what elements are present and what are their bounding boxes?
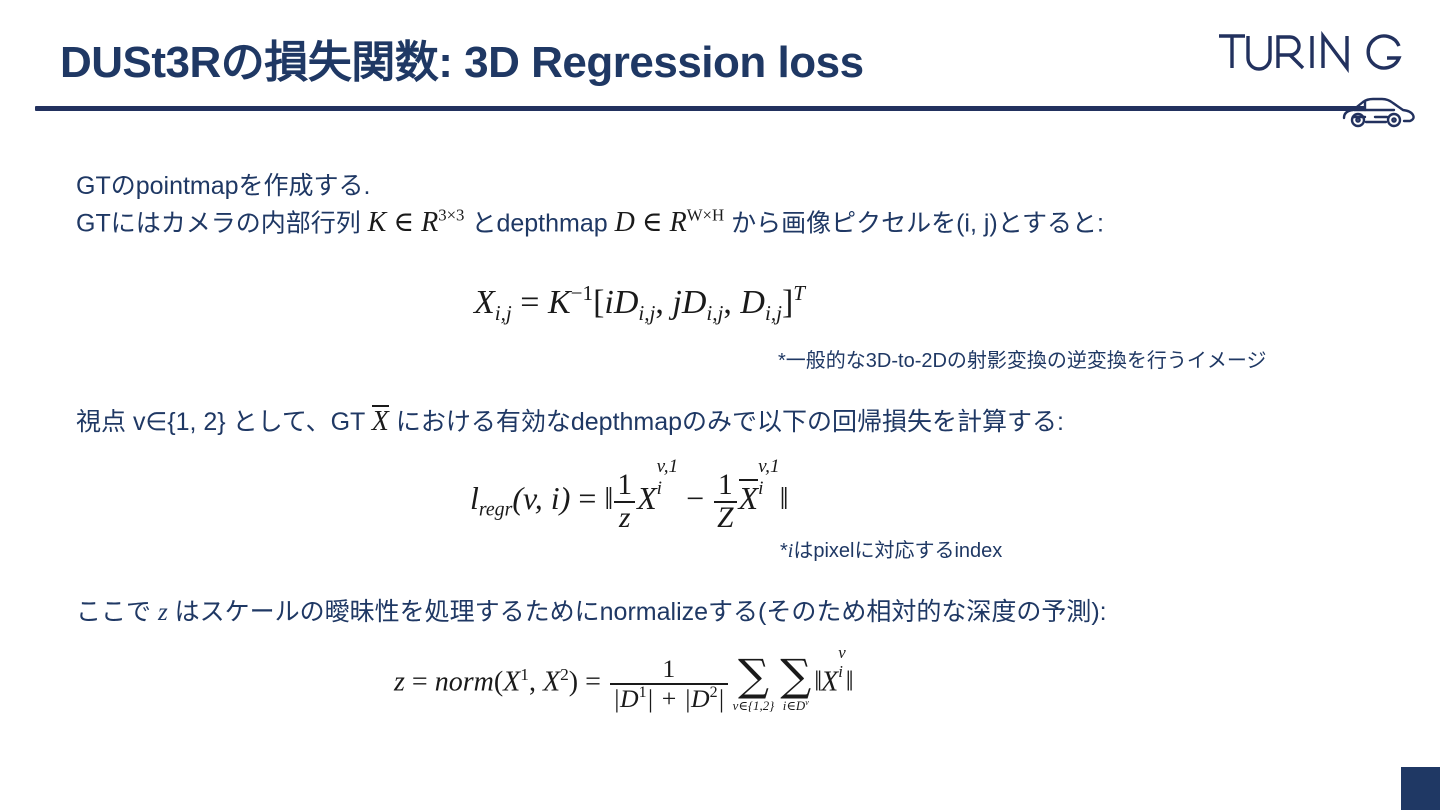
title-divider-rule bbox=[35, 106, 1365, 111]
body-line-1: GTのpointmapを作成する. bbox=[76, 170, 371, 202]
body-line-2-pre: GTにはカメラの内部行列 bbox=[76, 209, 361, 237]
inline-math-xbar: X bbox=[372, 406, 389, 437]
formula-normalization: z = norm(X1, X2) = 1|D1| + |D2|∑v∈{1,2}∑… bbox=[394, 655, 853, 713]
formula-pointmap: Xi,j = K−1[iDi,j, jDi,j, Di,j]T bbox=[474, 281, 805, 326]
body-line-3-post: における有効なdepthmapのみで以下の回帰損失を計算する: bbox=[396, 408, 1064, 436]
body-line-2-post: から画像ピクセルを(i, j)とすると: bbox=[731, 209, 1104, 237]
note-projection: *一般的な3D-to-2Dの射影変換の逆変換を行うイメージ bbox=[778, 344, 1267, 373]
formula-regression-loss: lregr(v, i) = ‖1zXv,1i − 1ZXv,1i‖ bbox=[470, 470, 788, 533]
body-line-2-mid: とdepthmap bbox=[471, 209, 607, 237]
summation-over-pixels: ∑i∈Dv bbox=[780, 655, 811, 713]
body-line-2: GTにはカメラの内部行列 K ∈ R3×3 とdepthmap D ∈ RW×H… bbox=[76, 205, 1104, 241]
inline-math-z: z bbox=[158, 599, 168, 626]
body-line-4: ここで z はスケールの曖昧性を処理するためにnormalizeする(そのため相… bbox=[76, 596, 1107, 629]
fraction-one-over-z: 1z bbox=[614, 470, 635, 533]
car-icon bbox=[1336, 92, 1416, 132]
fraction-one-over-cardinality: 1|D1| + |D2| bbox=[610, 656, 728, 712]
corner-accent-block bbox=[1401, 767, 1440, 810]
body-line-4-pre: ここで bbox=[76, 598, 151, 626]
page-title: DUSt3Rの損失関数: 3D Regression loss bbox=[60, 26, 864, 90]
inline-math-k: K ∈ R3×3 bbox=[368, 207, 472, 238]
fraction-one-over-zbar: 1Z bbox=[714, 470, 736, 533]
body-line-3: 視点 v∈{1, 2} として、GT X における有効なdepthmapのみで以… bbox=[76, 404, 1064, 440]
turing-logo bbox=[1215, 30, 1405, 76]
inline-math-d: D ∈ RW×H bbox=[615, 207, 732, 238]
body-line-4-post: はスケールの曖昧性を処理するためにnormalizeする(そのため相対的な深度の… bbox=[175, 598, 1107, 626]
summation-over-views: ∑v∈{1,2} bbox=[733, 655, 775, 712]
note-pixel-index: *iはpixelに対応するindex bbox=[780, 534, 1002, 563]
body-line-3-pre: 視点 v∈{1, 2} として、GT bbox=[76, 408, 365, 436]
